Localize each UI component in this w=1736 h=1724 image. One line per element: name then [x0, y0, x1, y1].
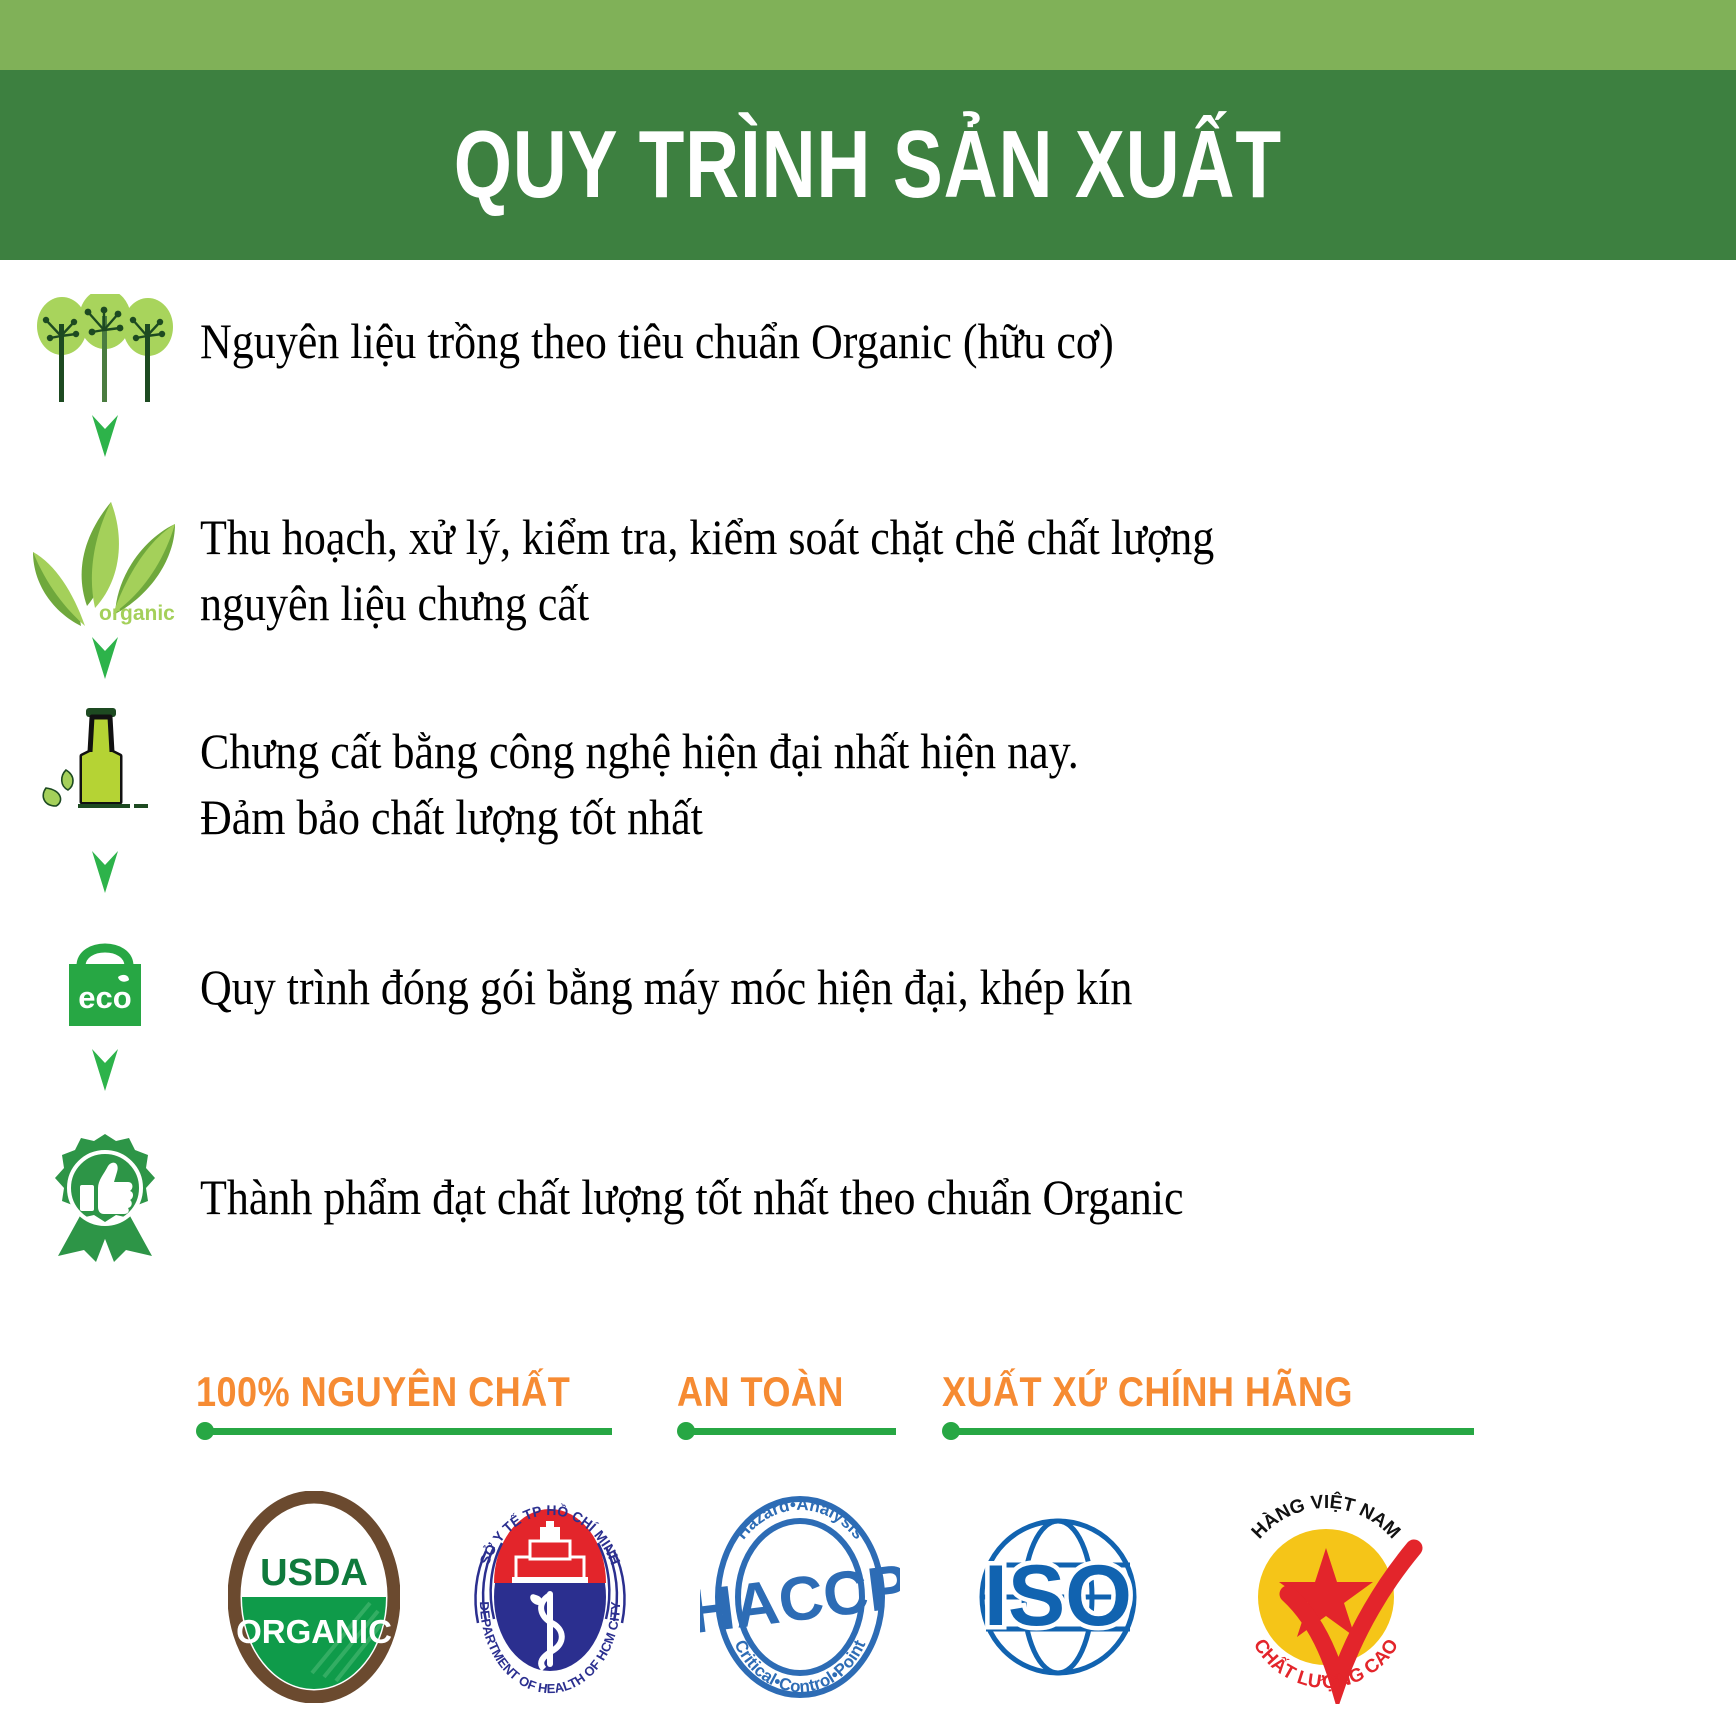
arrow-connector-2: [0, 636, 1736, 680]
arrow-connector-3: [0, 850, 1736, 894]
certification-logos: USDA ORGANIC: [0, 1440, 1736, 1704]
feature-rule: [942, 1422, 1474, 1440]
feature-label: AN TOÀN: [677, 1370, 844, 1414]
page-title: QUY TRÌNH SẢN XUẤT: [454, 117, 1282, 213]
process-step-2: organic Thu hoạch, xử lý, kiểm tra, kiểm…: [0, 494, 1736, 636]
process-step-1: Nguyên liệu trồng theo tiêu chuẩn Organi…: [0, 294, 1736, 414]
feature-genuine-origin: XUẤT XỨ CHÍNH HÃNG: [942, 1370, 1474, 1440]
iso-logo: ISO: [952, 1507, 1164, 1687]
process-steps: Nguyên liệu trồng theo tiêu chuẩn Organi…: [0, 260, 1736, 1262]
eco-bag-icon: eco: [0, 928, 200, 1046]
usda-logo-line1: USDA: [260, 1552, 368, 1594]
process-step-5-text: Thành phẩm đạt chất lượng tốt nhất theo …: [200, 1130, 1552, 1230]
feature-highlights: 100% NGUYÊN CHẤT AN TOÀN XUẤT XỨ CHÍNH H…: [0, 1262, 1736, 1440]
process-step-5: Thành phẩm đạt chất lượng tốt nhất theo …: [0, 1130, 1736, 1262]
feature-label: 100% NGUYÊN CHẤT: [196, 1370, 570, 1414]
arrow-down-icon: [88, 849, 122, 895]
process-step-4-text: Quy trình đóng gói bằng máy móc hiện đại…: [200, 928, 1552, 1020]
quality-badge-icon: [0, 1130, 200, 1262]
header-band: QUY TRÌNH SẢN XUẤT: [0, 70, 1736, 260]
feature-line: [958, 1428, 1474, 1435]
oil-bottle-icon: [0, 704, 200, 834]
process-step-2-text: Thu hoạch, xử lý, kiểm tra, kiểm soát ch…: [200, 494, 1552, 636]
organic-leaves-icon: organic: [0, 494, 200, 629]
trees-icon: [0, 294, 200, 404]
process-step-4: eco Quy trình đóng gói bằng máy móc hiện…: [0, 928, 1736, 1048]
feature-rule: [677, 1422, 896, 1440]
haccp-logo-bottom-text: Critical•Control•Point: [731, 1637, 870, 1696]
feature-safe: AN TOÀN: [677, 1370, 896, 1440]
arrow-down-icon: [88, 635, 122, 681]
feature-100-percent-pure: 100% NGUYÊN CHẤT: [196, 1370, 631, 1440]
feature-line: [212, 1428, 612, 1435]
arrow-connector-1: [0, 414, 1736, 458]
arrow-down-icon: [88, 413, 122, 459]
process-step-1-text: Nguyên liệu trồng theo tiêu chuẩn Organi…: [200, 294, 1552, 374]
hang-viet-nam-chat-luong-cao-logo: HÀNG VIỆT NAM CHẤT LƯỢNG CAO: [1216, 1490, 1436, 1704]
usda-organic-logo: USDA ORGANIC: [228, 1491, 400, 1703]
eco-icon-label: eco: [78, 980, 131, 1015]
feature-line: [693, 1428, 896, 1435]
feature-rule: [196, 1422, 612, 1440]
haccp-logo: HACCP Hazard•Analysis Critical•Control•P…: [700, 1494, 900, 1700]
department-of-health-hcm-logo: SỞ Y TẾ TP HỒ CHÍ MINH DEPARTMENT OF HEA…: [452, 1491, 648, 1703]
feature-label: XUẤT XỨ CHÍNH HÃNG: [942, 1370, 1353, 1414]
header-top-strip: [0, 0, 1736, 70]
process-step-3: Chưng cất bằng công nghệ hiện đại nhất h…: [0, 704, 1736, 850]
arrow-connector-4: [0, 1048, 1736, 1092]
organic-icon-label: organic: [99, 602, 175, 625]
usda-logo-line2: ORGANIC: [236, 1613, 392, 1650]
arrow-down-icon: [88, 1047, 122, 1093]
iso-logo-main-text: ISO: [984, 1548, 1132, 1644]
haccp-logo-main-text: HACCP: [700, 1552, 900, 1647]
process-step-3-text: Chưng cất bằng công nghệ hiện đại nhất h…: [200, 704, 1552, 850]
